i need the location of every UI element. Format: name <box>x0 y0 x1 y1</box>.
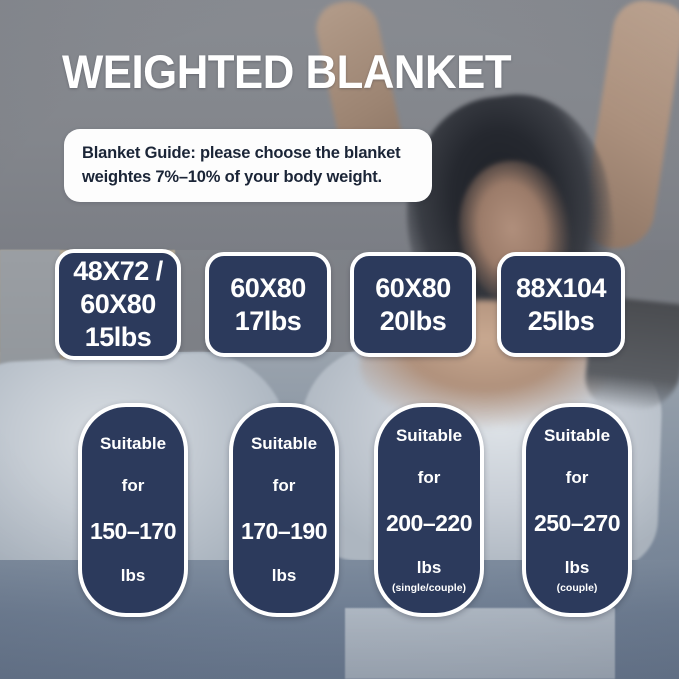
suitable-card-2-for: for <box>273 476 296 496</box>
size-box-3-line-2: 20lbs <box>380 305 447 338</box>
size-box-1-line-2: 60X80 <box>80 288 156 321</box>
suitable-card-1-for: for <box>122 476 145 496</box>
suitable-card-2-range: 170–190 <box>241 518 327 544</box>
suitable-card-1-label: Suitable <box>100 434 166 454</box>
size-box-1-line-1: 48X72 / <box>73 255 163 288</box>
suitable-card-4-range: 250–270 <box>534 510 620 536</box>
suitable-card-2-unit: lbs <box>272 566 297 586</box>
suitable-card-4-for: for <box>566 468 589 488</box>
size-box-4-line-1: 88X104 <box>516 272 606 305</box>
poster-content: WEIGHTED BLANKET Blanket Guide: please c… <box>0 0 679 679</box>
suitable-card-2: Suitable for 170–190 lbs <box>229 403 339 617</box>
suitable-card-3-range: 200–220 <box>386 510 472 536</box>
suitable-card-4-label: Suitable <box>544 426 610 446</box>
suitable-card-4-unit: lbs <box>565 558 590 578</box>
suitable-card-3-note: (single/couple) <box>392 581 466 595</box>
size-box-1-line-3: 15lbs <box>85 321 152 354</box>
suitable-card-2-label: Suitable <box>251 434 317 454</box>
suitable-card-4-note: (couple) <box>557 581 598 595</box>
weighted-blanket-infographic: WEIGHTED BLANKET Blanket Guide: please c… <box>0 0 679 679</box>
suitable-card-1-range: 150–170 <box>90 518 176 544</box>
size-box-2: 60X80 17lbs <box>205 252 331 357</box>
size-box-3-line-1: 60X80 <box>375 272 451 305</box>
size-box-2-line-1: 60X80 <box>230 272 306 305</box>
size-box-2-line-2: 17lbs <box>235 305 302 338</box>
suitable-card-1: Suitable for 150–170 lbs <box>78 403 188 617</box>
suitable-card-4: Suitable for 250–270 lbs (couple) <box>522 403 632 617</box>
size-box-4-line-2: 25lbs <box>528 305 595 338</box>
suitable-card-1-unit: lbs <box>121 566 146 586</box>
suitable-card-3-unit: lbs <box>417 558 442 578</box>
suitable-card-3-label: Suitable <box>396 426 462 446</box>
suitable-card-3: Suitable for 200–220 lbs (single/couple) <box>374 403 484 617</box>
size-box-4: 88X104 25lbs <box>497 252 625 357</box>
size-box-3: 60X80 20lbs <box>350 252 476 357</box>
size-box-1: 48X72 / 60X80 15lbs <box>55 249 181 360</box>
suitable-card-3-for: for <box>418 468 441 488</box>
